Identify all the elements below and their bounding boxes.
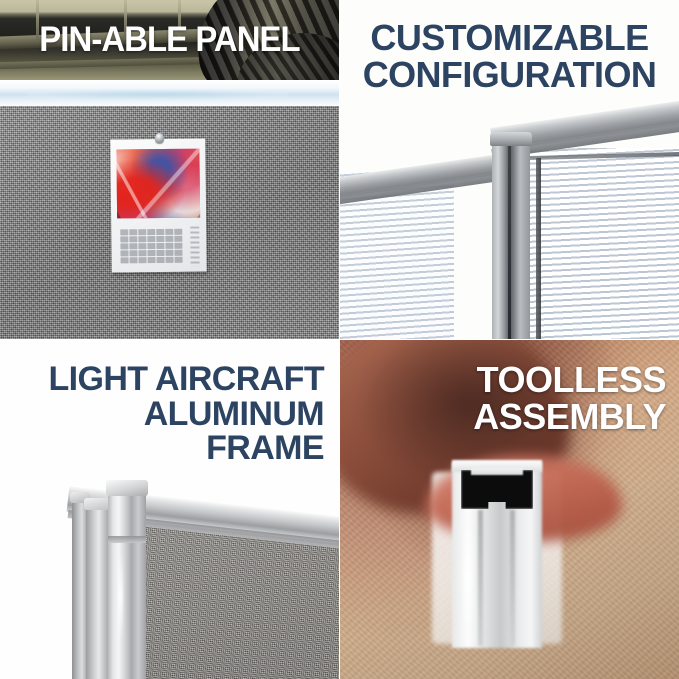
caption-line-1: TOOLLESS — [350, 362, 666, 399]
caption-line-1: CUSTOMIZABLE — [348, 20, 671, 57]
extrusion-gloss-highlight — [464, 516, 472, 636]
caption-line-3: FRAME — [6, 431, 324, 466]
panel-customizable-configuration: CUSTOMIZABLE CONFIGURATION — [340, 0, 679, 339]
aluminum-corner-post — [492, 140, 530, 339]
caption-line-2: CONFIGURATION — [348, 57, 671, 94]
glass-mullion — [536, 158, 541, 339]
extrusion-channel-lip — [471, 468, 523, 475]
feature-infographic: PIN-ABLE PANEL CUSTOMIZABLE CONFIGURATIO… — [0, 0, 679, 679]
pinned-calendar — [110, 139, 206, 273]
extrusion-rib-left — [478, 510, 483, 646]
calendar-artwork — [116, 149, 200, 219]
aluminum-corner-post-front — [108, 490, 146, 679]
caption-toolless-assembly: TOOLLESS ASSEMBLY — [350, 362, 666, 435]
caption-line-1: LIGHT AIRCRAFT — [6, 362, 324, 397]
caption-customizable-configuration: CUSTOMIZABLE CONFIGURATION — [348, 20, 671, 93]
aluminum-corner-post-cap — [106, 480, 148, 496]
push-pin-icon — [155, 133, 164, 143]
aluminum-specular-highlight — [118, 550, 123, 642]
caption-line-2: ALUMINUM — [6, 397, 324, 432]
ceiling-light-glow — [28, 90, 288, 99]
aluminum-post-middle-cap — [84, 498, 110, 510]
frame-corner-joint — [108, 536, 146, 543]
post-end-cap — [490, 132, 532, 146]
panel-light-aircraft-aluminum-frame: LIGHT AIRCRAFT ALUMINUM FRAME — [0, 340, 339, 679]
venetian-blinds-right — [518, 148, 679, 339]
post-seam — [508, 146, 511, 339]
panel-toolless-assembly: TOOLLESS ASSEMBLY — [340, 340, 679, 679]
extrusion-rib-right — [510, 510, 515, 646]
panel-pin-able: PIN-ABLE PANEL — [0, 0, 339, 339]
caption-pin-able-panel: PIN-ABLE PANEL — [10, 22, 329, 58]
aluminum-post-middle — [86, 506, 108, 679]
caption-line-2: ASSEMBLY — [350, 399, 666, 436]
caption-light-aircraft-aluminum-frame: LIGHT AIRCRAFT ALUMINUM FRAME — [6, 362, 324, 466]
calendar-date-grid — [120, 229, 182, 264]
calendar-side-text — [190, 227, 199, 267]
